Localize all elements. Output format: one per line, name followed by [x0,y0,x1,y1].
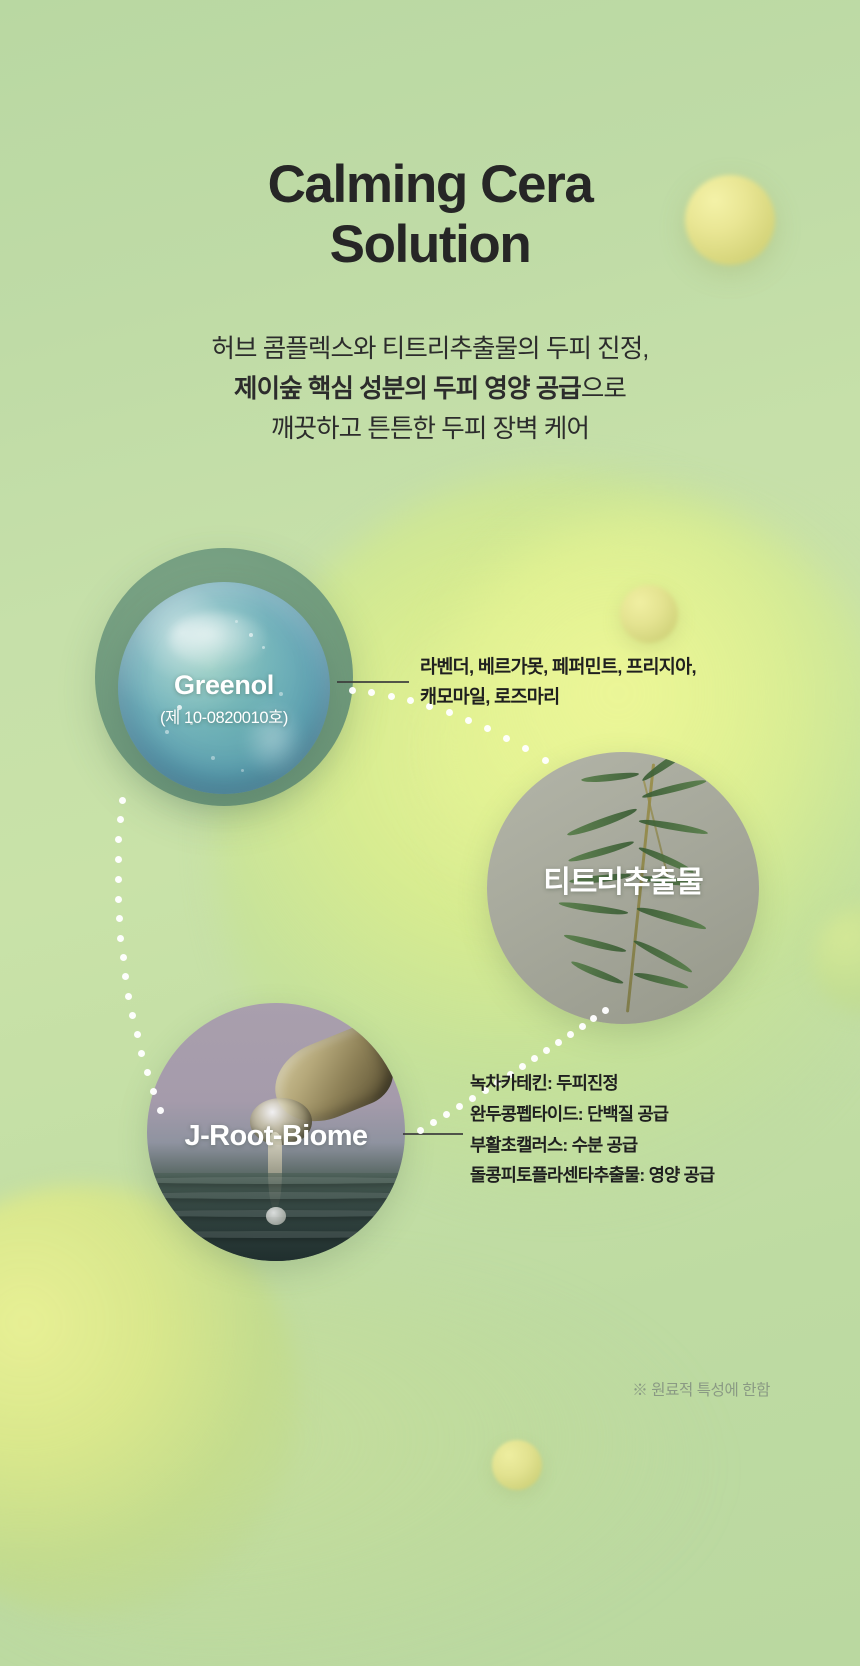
tea-tree-leaf-icon [559,900,629,917]
page-title: Calming Cera Solution [0,155,860,276]
subtitle-line-2: 제이숲 핵심 성분의 두피 영양 공급으로 [0,370,860,410]
tea-tree-leaf-icon [563,932,627,954]
tea-tree-leaf-icon [633,970,689,990]
ingredient-circle-greenol[interactable]: Greenol (제 10-0820010호) [118,582,330,794]
tea-tree-leaf-icon [632,937,694,974]
title-line-2: Solution [0,215,860,275]
greenol-patent-number: (제 10-0820010호) [118,704,330,728]
water-ripple-icon [147,1231,405,1238]
subtitle-line-1: 허브 콤플렉스와 티트리추출물의 두피 진정, [0,330,860,370]
footnote: ※ 원료적 특성에 한함 [430,1378,770,1400]
page-subtitle: 허브 콤플렉스와 티트리추출물의 두피 진정, 제이숲 핵심 성분의 두피 영양… [0,330,860,449]
tea-tree-leaf-icon [581,771,639,784]
subtitle-line-2-tail: 으로 [581,375,626,403]
ingredient-circle-tea-tree[interactable]: 티트리추출물 [487,752,759,1024]
benefit-item: 녹차카테킨: 두피진정 [470,1068,714,1099]
benefit-item: 돌콩피토플라센타추출물: 영양 공급 [470,1160,714,1191]
tea-tree-leaf-icon [570,960,625,987]
tea-tree-leaf-icon [566,807,638,840]
water-ripple-icon [147,1177,405,1184]
tea-tree-leaf-icon [639,817,709,836]
background-sphere-right-edge [812,905,860,1015]
bubble-highlight-icon [169,612,267,667]
bubble-speck-icon [211,756,215,760]
background-blob-bottom-wide [0,1280,700,1666]
greenol-label: Greenol [118,670,330,701]
tea-tree-leaf-icon [635,904,706,932]
subtitle-line-3: 깨끗하고 튼튼한 두피 장벽 케어 [0,410,860,450]
background-sphere-yellow-bottom [492,1440,542,1490]
connector-greenol-to-herbs [337,681,409,683]
bubble-speck-icon [165,730,169,734]
bubble-speck-icon [241,769,244,772]
herb-list-line-1: 라벤더, 베르가못, 페퍼민트, 프리지아, [420,652,696,682]
herb-list-line-2: 캐모마일, 로즈마리 [420,682,696,712]
benefit-item: 완두콩펩타이드: 단백질 공급 [470,1099,714,1130]
benefit-item: 부활초캘러스: 수분 공급 [470,1130,714,1161]
j-root-biome-label: J-Root-Biome [147,1120,405,1153]
greenol-herb-list: 라벤더, 베르가못, 페퍼민트, 프리지아, 캐모마일, 로즈마리 [420,652,696,712]
water-droplet-icon [266,1207,287,1225]
subtitle-line-2-bold: 제이숲 핵심 성분의 두피 영양 공급 [234,375,581,403]
tea-tree-label: 티트리추출물 [487,857,759,901]
connector-jroot-to-benefits [403,1133,463,1135]
title-line-1: Calming Cera [0,155,860,215]
background-sphere-yellow-mid [620,585,678,643]
water-ripple-icon [147,1192,405,1199]
bubble-speck-icon [262,646,265,649]
bubble-speck-icon [235,620,238,623]
infographic-canvas: Calming Cera Solution 허브 콤플렉스와 티트리추출물의 두… [0,0,860,1666]
j-root-biome-benefit-list: 녹차카테킨: 두피진정 완두콩펩타이드: 단백질 공급 부활초캘러스: 수분 공… [470,1068,714,1191]
ingredient-circle-j-root-biome[interactable]: J-Root-Biome [147,1003,405,1261]
